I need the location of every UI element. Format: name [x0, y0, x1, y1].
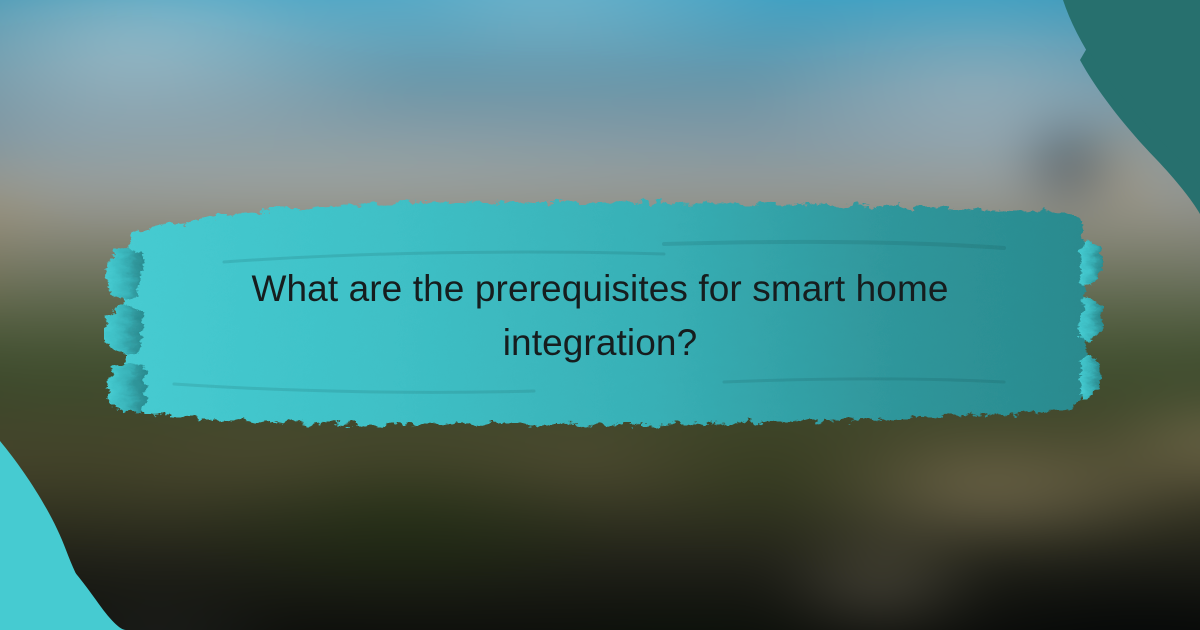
- question-text: What are the prerequisites for smart hom…: [150, 262, 1050, 370]
- question-card: What are the prerequisites for smart hom…: [0, 0, 1200, 630]
